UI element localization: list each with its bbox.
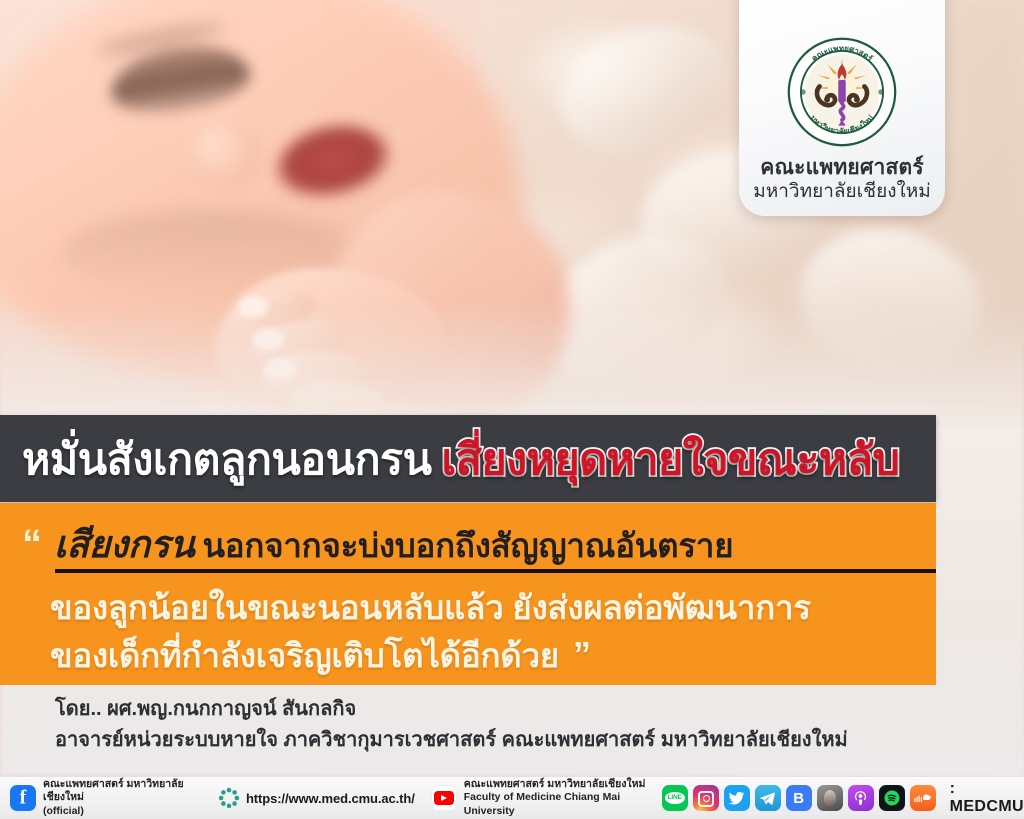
poster-root: คณะแพทยศาสตร์ มหาวิทยาลัยเชียงใหม่ คณะแพ…: [0, 0, 1024, 819]
apple-podcast-glyph: [852, 790, 869, 807]
facebook-sub: (official): [43, 805, 202, 818]
logo-university-line: มหาวิทยาลัยเชียงใหม่: [753, 181, 931, 204]
quote-emphasis: เสียงกรน: [54, 515, 194, 574]
youtube-label: คณะแพทยศาสตร์ มหาวิทยาลัยเชียงใหม่ Facul…: [464, 778, 648, 817]
credit-affiliation: อาจารย์หน่วยระบบหายใจ ภาควิชากุมารเวชศาส…: [55, 725, 848, 756]
footer-website[interactable]: https://www.med.cmu.ac.th/: [202, 787, 415, 809]
medcmu-handle: : MEDCMU: [950, 780, 1024, 816]
youtube-name: คณะแพทยศาสตร์ มหาวิทยาลัยเชียงใหม่: [464, 778, 648, 791]
apple-podcasts-icon[interactable]: [848, 785, 874, 811]
telegram-icon[interactable]: [755, 785, 781, 811]
blockdit-icon[interactable]: B: [786, 785, 812, 811]
footer-social-list: LINE B: [662, 780, 1024, 816]
headline-red-text: เสี่ยงหยุดหายใจขณะหลับ: [442, 436, 900, 484]
logo-faculty-line: คณะแพทยศาสตร์: [760, 156, 924, 180]
quote-box: “ เสียงกรน นอกจากจะบ่งบอกถึงสัญญาณอันตรา…: [0, 503, 936, 685]
instagram-icon[interactable]: [693, 785, 719, 811]
quote-open-mark: “: [22, 524, 42, 564]
quote-divider-rule: [55, 569, 936, 573]
website-dots-icon[interactable]: [218, 787, 240, 809]
quote-close-mark: ”: [573, 634, 591, 675]
facebook-name: คณะแพทยศาสตร์ มหาวิทยาลัยเชียงใหม่: [43, 778, 202, 804]
credit-block: โดย.. ผศ.พญ.กนกกาญจน์ สันกลกิจ อาจารย์หน…: [55, 694, 848, 756]
headline-inner: หมั่นสังเกตลูกนอนกรนเสี่ยงหยุดหายใจขณะหล…: [0, 425, 899, 493]
footer-bar: คณะแพทยศาสตร์ มหาวิทยาลัยเชียงใหม่ (offi…: [0, 776, 1024, 819]
soundcloud-waves-glyph: [913, 791, 932, 806]
spotify-waves-glyph: [883, 789, 901, 807]
cmu-logo-badge: คณะแพทยศาสตร์ มหาวิทยาลัยเชียงใหม่ คณะแพ…: [739, 0, 945, 216]
twitter-bird-glyph: [728, 790, 745, 807]
website-url[interactable]: https://www.med.cmu.ac.th/: [246, 791, 415, 806]
facebook-icon[interactable]: [10, 785, 36, 811]
quote-line-2: ของลูกน้อยในขณะนอนหลับแล้ว ยังส่งผลต่อพั…: [50, 581, 811, 634]
quote-line-3: ของเด็กที่กำลังเจริญเติบโตได้อีกด้วย”: [50, 629, 591, 682]
spotify-icon[interactable]: [879, 785, 905, 811]
cmu-medicine-seal-icon: คณะแพทยศาสตร์ มหาวิทยาลัยเชียงใหม่: [786, 36, 898, 148]
quote-line-1-rest: นอกจากจะบ่งบอกถึงสัญญาณอันตราย: [202, 519, 733, 572]
footer-youtube[interactable]: คณะแพทยศาสตร์ มหาวิทยาลัยเชียงใหม่ Facul…: [415, 778, 648, 817]
podcast-person-icon[interactable]: [817, 785, 843, 811]
footer-facebook[interactable]: คณะแพทยศาสตร์ มหาวิทยาลัยเชียงใหม่ (offi…: [0, 778, 202, 817]
facebook-label: คณะแพทยศาสตร์ มหาวิทยาลัยเชียงใหม่ (offi…: [43, 778, 202, 817]
soundcloud-icon[interactable]: [910, 785, 936, 811]
youtube-icon[interactable]: [431, 785, 457, 811]
credit-author: โดย.. ผศ.พญ.กนกกาญจน์ สันกลกิจ: [55, 694, 848, 725]
quote-line-1: “ เสียงกรน นอกจากจะบ่งบอกถึงสัญญาณอันตรา…: [22, 515, 733, 574]
line-icon[interactable]: LINE: [662, 785, 688, 811]
baby-nose: [185, 120, 263, 190]
youtube-sub: Faculty of Medicine Chiang Mai Universit…: [464, 791, 648, 817]
headline-white-text: หมั่นสังเกตลูกนอนกรน: [22, 436, 432, 484]
headline-bar: หมั่นสังเกตลูกนอนกรนเสี่ยงหยุดหายใจขณะหล…: [0, 415, 936, 502]
twitter-icon[interactable]: [724, 785, 750, 811]
telegram-plane-glyph: [759, 790, 776, 807]
quote-line-3-text: ของเด็กที่กำลังเจริญเติบโตได้อีกด้วย: [50, 637, 559, 674]
